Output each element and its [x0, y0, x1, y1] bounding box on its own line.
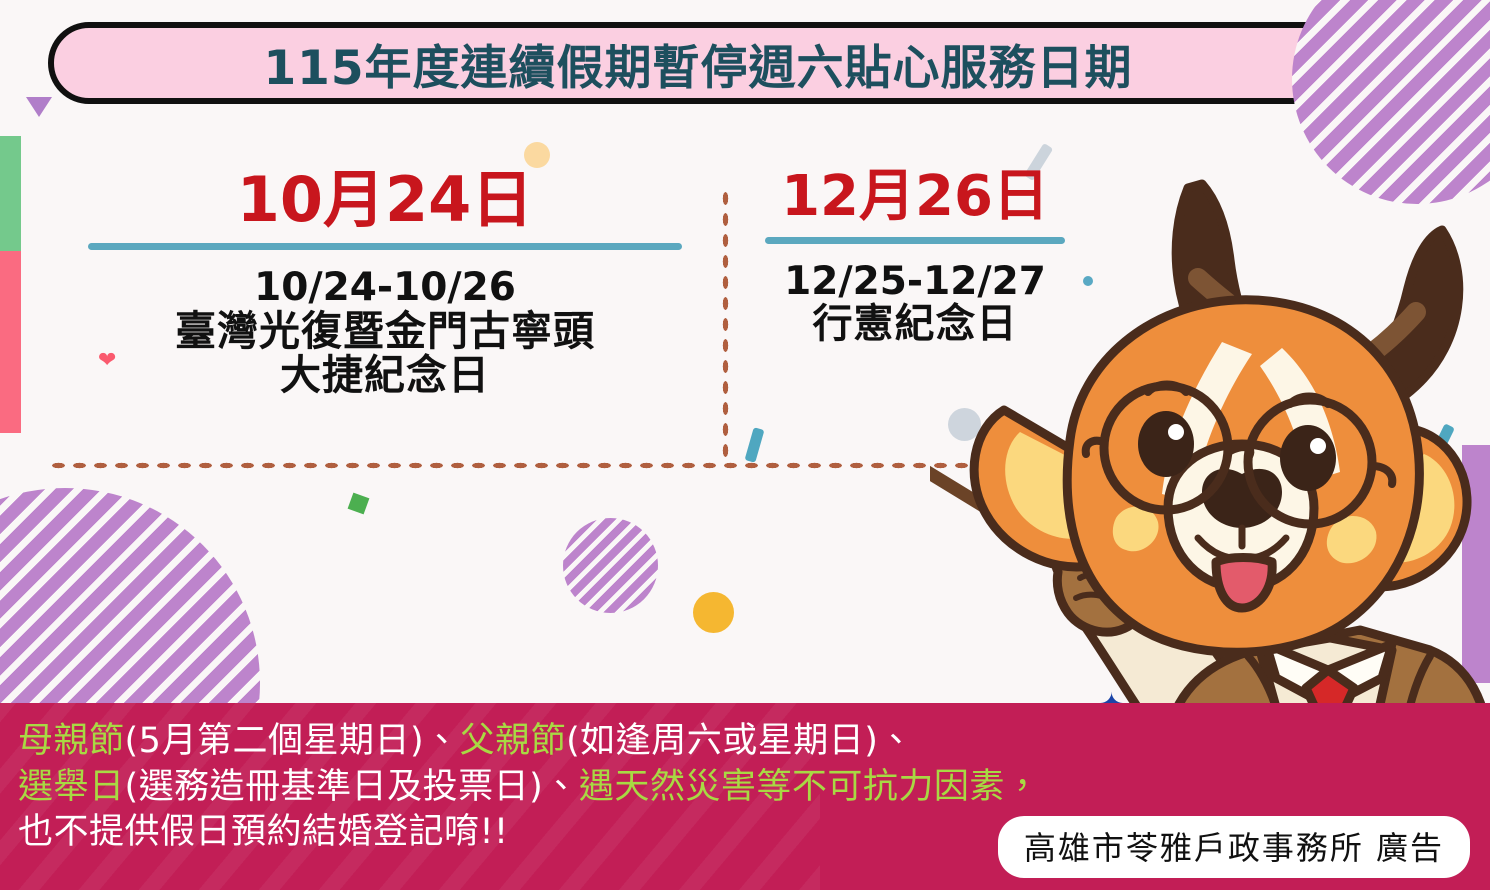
holiday-card-october: 10月24日 10/24-10/26 臺灣光復暨金門古寧頭 大捷紀念日 [80, 168, 690, 397]
card-holiday-name-line1: 臺灣光復暨金門古寧頭 [80, 309, 690, 353]
bottom-notice-banner: 母親節(5月第二個星期日)、父親節(如逢周六或星期日)、選舉日(選務造冊基準日及… [0, 703, 1490, 890]
notice-highlight-term: 選舉日 [18, 767, 125, 807]
triangle-purple-icon [26, 97, 52, 117]
accent-bar-pink [0, 251, 21, 433]
card-date-heading: 10月24日 [80, 168, 690, 232]
card-underline [88, 243, 682, 250]
striped-circle-middle [563, 518, 658, 613]
notice-plain-text: (選務造冊基準日及投票日)、 [125, 767, 579, 807]
header-banner: 115年度連續假期暫停週六貼心服務日期 [48, 22, 1348, 104]
notice-highlight-term: 父親節 [460, 721, 567, 761]
notice-plain-text: 也不提供假日預約結婚登記唷!! [18, 812, 509, 852]
notice-highlight-term: 遇天然災害等不可抗力因素， [579, 767, 1041, 807]
confetti-dot-yellow-large [693, 592, 734, 633]
notice-plain-text: (如逢周六或星期日)、 [566, 721, 914, 761]
notice-plain-text: (5月第二個星期日)、 [125, 721, 460, 761]
dotted-divider-horizontal [48, 461, 1058, 470]
poster-canvas: ✦ ❤ 115年度連續假期暫停週六貼心服務日期 10月24日 10/24-10/… [0, 0, 1490, 890]
credit-text: 高雄市苓雅戶政事務所 廣告 [1024, 829, 1444, 867]
card-holiday-name-line2: 大捷紀念日 [80, 353, 690, 397]
credit-badge: 高雄市苓雅戶政事務所 廣告 [998, 816, 1470, 878]
notice-highlight-term: 母親節 [18, 721, 125, 761]
dotted-divider-vertical [721, 188, 730, 466]
confetti-square-green [348, 493, 370, 515]
card-date-range: 10/24-10/26 [80, 267, 690, 308]
confetti-tick-teal-left [745, 427, 765, 463]
accent-bar-green [0, 136, 21, 251]
page-title: 115年度連續假期暫停週六貼心服務日期 [263, 29, 1132, 98]
